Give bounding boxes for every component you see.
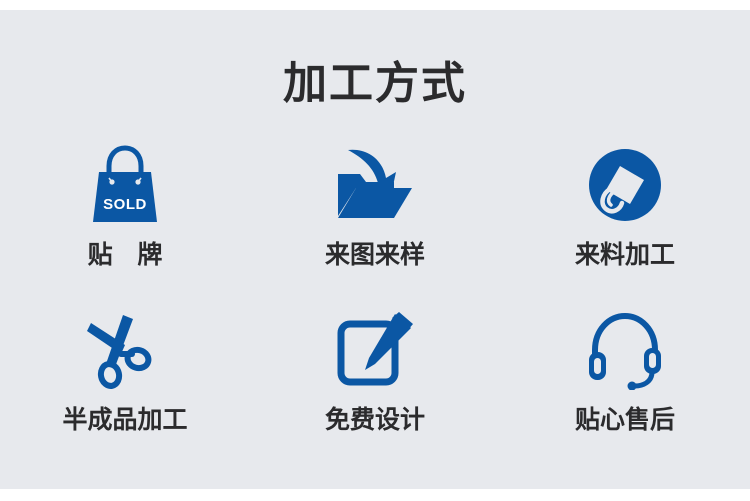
scissors-icon xyxy=(77,307,173,393)
content-panel: 加工方式 SOLD 贴 牌 xyxy=(0,10,750,489)
features-grid: SOLD 贴 牌 来图来样 xyxy=(0,142,750,472)
headset-support-icon xyxy=(577,307,673,393)
circle-paint-roller-icon xyxy=(577,142,673,228)
shopping-bag-sold-icon: SOLD xyxy=(77,142,173,228)
feature-item-branding[interactable]: SOLD 贴 牌 xyxy=(0,142,250,307)
page-title: 加工方式 xyxy=(0,56,750,112)
feature-label: 来料加工 xyxy=(575,240,675,270)
feature-item-free-design[interactable]: 免费设计 xyxy=(250,307,500,472)
feature-item-drawing-sample[interactable]: 来图来样 xyxy=(250,142,500,307)
feature-item-after-sales[interactable]: 贴心售后 xyxy=(500,307,750,472)
feature-label: 半成品加工 xyxy=(62,405,187,435)
feature-label: 贴心售后 xyxy=(575,405,675,435)
feature-label: 贴 牌 xyxy=(80,240,171,270)
folder-download-arrow-icon xyxy=(327,142,423,228)
feature-label: 来图来样 xyxy=(325,240,425,270)
sold-badge-text: SOLD xyxy=(103,196,147,213)
page-root: 加工方式 SOLD 贴 牌 xyxy=(0,0,750,501)
feature-label: 免费设计 xyxy=(325,405,425,435)
pen-square-edit-icon xyxy=(327,307,423,393)
feature-item-semi-finished[interactable]: 半成品加工 xyxy=(0,307,250,472)
feature-item-material-processing[interactable]: 来料加工 xyxy=(500,142,750,307)
